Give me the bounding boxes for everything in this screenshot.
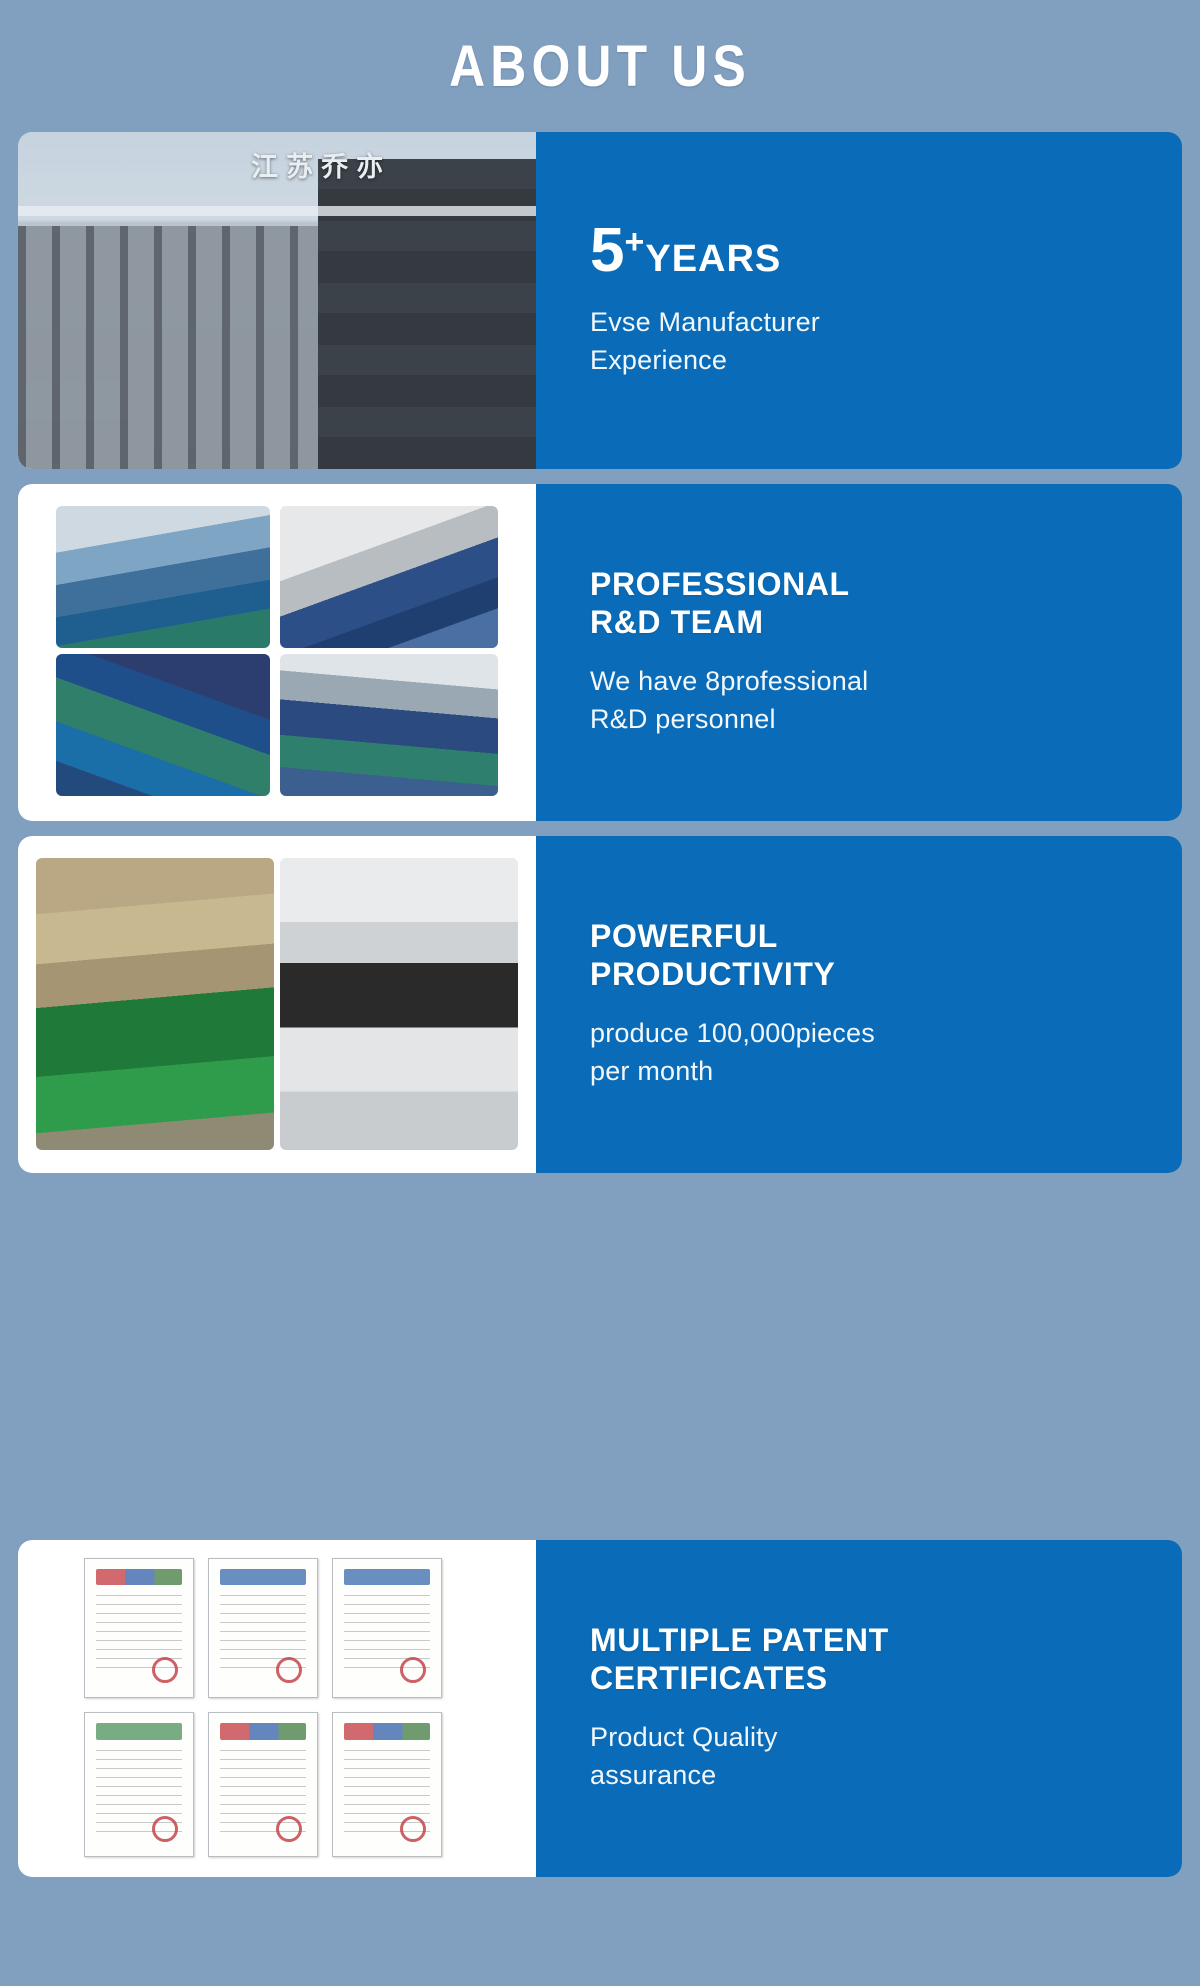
- panel-years-copy: 5 + YEARS Evse Manufacturer Experience: [536, 132, 1182, 469]
- warehouse-shelving-photo: [280, 858, 518, 1150]
- productivity-subline-line-1: produce 100,000pieces: [590, 1014, 1182, 1052]
- years-subline-line-2: Experience: [590, 341, 1182, 379]
- productivity-subline: produce 100,000pieces per month: [590, 1014, 1182, 1091]
- certificate-3: [332, 1558, 442, 1698]
- building-band: [18, 206, 536, 216]
- certificate-6: [332, 1712, 442, 1857]
- page-title: ABOUT US: [84, 0, 1116, 96]
- certificate-5: [208, 1712, 318, 1857]
- panel-productivity-media: [18, 836, 536, 1173]
- rd-subline: We have 8professional R&D personnel: [590, 662, 1182, 739]
- rd-photo-4: [280, 654, 498, 796]
- productivity-headline-line-1: POWERFUL: [590, 918, 1182, 956]
- certificates-subline-line-2: assurance: [590, 1756, 1182, 1794]
- years-subline-line-1: Evse Manufacturer: [590, 303, 1182, 341]
- panel-years-experience[interactable]: 江苏乔亦 5 + YEARS Evse Manufacturer Experie…: [18, 132, 1182, 469]
- rd-subline-line-2: R&D personnel: [590, 700, 1182, 738]
- productivity-headline-line-2: PRODUCTIVITY: [590, 956, 1182, 994]
- productivity-headline: POWERFUL PRODUCTIVITY: [590, 918, 1182, 994]
- rd-headline-line-1: PROFESSIONAL: [590, 566, 1182, 604]
- panel-productivity-copy: POWERFUL PRODUCTIVITY produce 100,000pie…: [536, 836, 1182, 1173]
- certificates-headline-line-1: MULTIPLE PATENT: [590, 1622, 1182, 1660]
- panel-rd-copy: PROFESSIONAL R&D TEAM We have 8professio…: [536, 484, 1182, 821]
- years-plus-superscript: +: [624, 225, 644, 259]
- years-unit-label: YEARS: [645, 238, 781, 281]
- certificate-1: [84, 1558, 194, 1698]
- panel-rd-team[interactable]: PROFESSIONAL R&D TEAM We have 8professio…: [18, 484, 1182, 821]
- panel-certificates-copy: MULTIPLE PATENT CERTIFICATES Product Qua…: [536, 1540, 1182, 1877]
- productivity-subline-line-2: per month: [590, 1052, 1182, 1090]
- panel-patent-certificates[interactable]: MULTIPLE PATENT CERTIFICATES Product Qua…: [18, 1540, 1182, 1877]
- certificates-subline-line-1: Product Quality: [590, 1718, 1182, 1756]
- building-sign-text: 江苏乔亦: [251, 145, 391, 184]
- warehouse-aisle-photo: [36, 858, 274, 1150]
- panel-certificates-media: [18, 1540, 536, 1877]
- certificate-4: [84, 1712, 194, 1857]
- years-count: 5 + YEARS: [590, 222, 1182, 281]
- rd-headline: PROFESSIONAL R&D TEAM: [590, 566, 1182, 642]
- rd-photo-2: [280, 506, 498, 648]
- panel-productivity[interactable]: POWERFUL PRODUCTIVITY produce 100,000pie…: [18, 836, 1182, 1173]
- rd-photo-1: [56, 506, 270, 648]
- years-subline: Evse Manufacturer Experience: [590, 303, 1182, 380]
- factory-building-photo: 江苏乔亦: [18, 132, 536, 469]
- rd-subline-line-1: We have 8professional: [590, 662, 1182, 700]
- rd-headline-line-2: R&D TEAM: [590, 604, 1182, 642]
- certificates-subline: Product Quality assurance: [590, 1718, 1182, 1795]
- certificates-headline: MULTIPLE PATENT CERTIFICATES: [590, 1622, 1182, 1698]
- panel-years-media: 江苏乔亦: [18, 132, 536, 469]
- rd-photo-3: [56, 654, 270, 796]
- certificate-2: [208, 1558, 318, 1698]
- years-number: 5: [590, 222, 624, 281]
- panel-rd-media: [18, 484, 536, 821]
- certificates-headline-line-2: CERTIFICATES: [590, 1660, 1182, 1698]
